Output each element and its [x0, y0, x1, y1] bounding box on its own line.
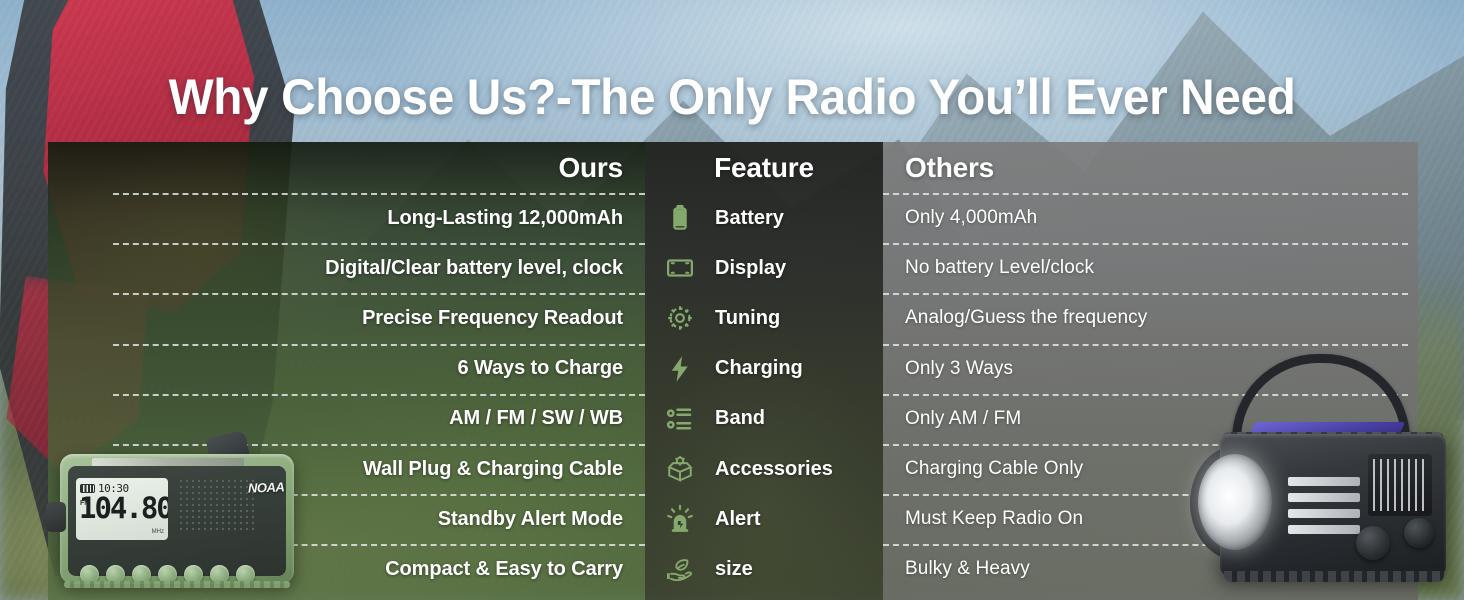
column-header-others: Others	[883, 142, 1418, 193]
others-cell: Only 4,000mAh	[883, 193, 1418, 243]
feature-label: Band	[715, 407, 765, 430]
black-competitor-radio-image	[1196, 350, 1454, 600]
lcd-screen: 10:30 FM 104.80 MHz	[76, 478, 168, 540]
feature-row: Display	[645, 243, 883, 293]
flashlight-lens	[1198, 454, 1272, 550]
tuning-dial	[1368, 454, 1432, 516]
noaa-brand-mark: NOAA	[247, 479, 284, 495]
feature-label: Charging	[715, 357, 803, 380]
volume-knob	[1404, 518, 1434, 548]
others-cell: Analog/Guess the frequency	[883, 293, 1418, 343]
speaker-grille	[178, 478, 256, 534]
ours-cell: Precise Frequency Readout	[48, 293, 645, 343]
column-header-ours: Ours	[48, 142, 645, 193]
ours-cell: 6 Ways to Charge	[48, 344, 645, 394]
feature-label: Display	[715, 257, 786, 280]
lightning-bolt-icon	[665, 354, 695, 384]
lcd-frequency: 104.80	[79, 494, 165, 523]
feature-label: size	[715, 558, 753, 581]
column-feature: Feature Battery	[645, 142, 883, 600]
grille-slat	[1288, 477, 1360, 486]
feature-label: Accessories	[715, 458, 833, 481]
feature-label: Battery	[715, 207, 784, 230]
ours-cell: Digital/Clear battery level, clock	[48, 243, 645, 293]
battery-icon	[665, 203, 695, 233]
tuning-knob	[1356, 526, 1390, 560]
ours-cell: Long-Lasting 12,000mAh	[48, 193, 645, 243]
hand-leaf-icon	[665, 554, 695, 584]
comparison-infographic: Why Choose Us?-The Only Radio You’ll Eve…	[0, 0, 1464, 600]
dial-scale	[1373, 459, 1427, 511]
side-knob	[46, 502, 66, 532]
feature-row: Tuning	[645, 293, 883, 343]
feature-label: Tuning	[715, 307, 780, 330]
feature-label: Alert	[715, 508, 761, 531]
feature-row: Band	[645, 394, 883, 444]
radio-base-trim	[64, 581, 290, 588]
feature-row: size	[645, 544, 883, 594]
gear-icon	[665, 303, 695, 333]
feature-row: Charging	[645, 344, 883, 394]
alarm-siren-icon	[665, 504, 695, 534]
radio-base-trim	[1224, 571, 1444, 582]
speaker-grille	[1288, 462, 1360, 548]
feature-row: Accessories	[645, 444, 883, 494]
grille-slat	[1288, 525, 1360, 534]
page-title: Why Choose Us?-The Only Radio You’ll Eve…	[33, 68, 1431, 126]
lcd-unit-label: MHz	[152, 529, 164, 535]
grille-slat	[1288, 493, 1360, 502]
others-cell: No battery Level/clock	[883, 243, 1418, 293]
feature-row: Alert	[645, 494, 883, 544]
grille-slat	[1288, 509, 1360, 518]
green-emergency-radio-image: 10:30 FM 104.80 MHz NOAA	[46, 432, 308, 600]
list-icon	[665, 404, 695, 434]
column-header-feature: Feature	[645, 142, 883, 193]
display-icon	[665, 253, 695, 283]
open-box-icon	[665, 454, 695, 484]
feature-row: Battery	[645, 193, 883, 243]
